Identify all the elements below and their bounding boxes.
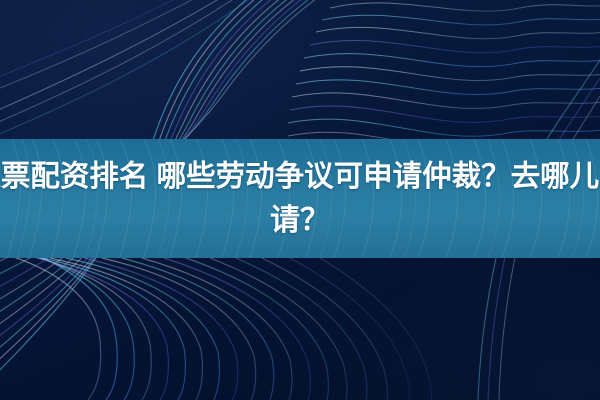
headline-line-1: 股票配资排名 哪些劳动争议可申请仲裁？去哪儿申: [0, 155, 600, 199]
headline-text-block: 股票配资排名 哪些劳动争议可申请仲裁？去哪儿申 请？: [0, 139, 600, 258]
headline-line-2: 请？: [270, 199, 330, 243]
banner-image: 股票配资排名 哪些劳动争议可申请仲裁？去哪儿申 请？: [0, 0, 600, 400]
